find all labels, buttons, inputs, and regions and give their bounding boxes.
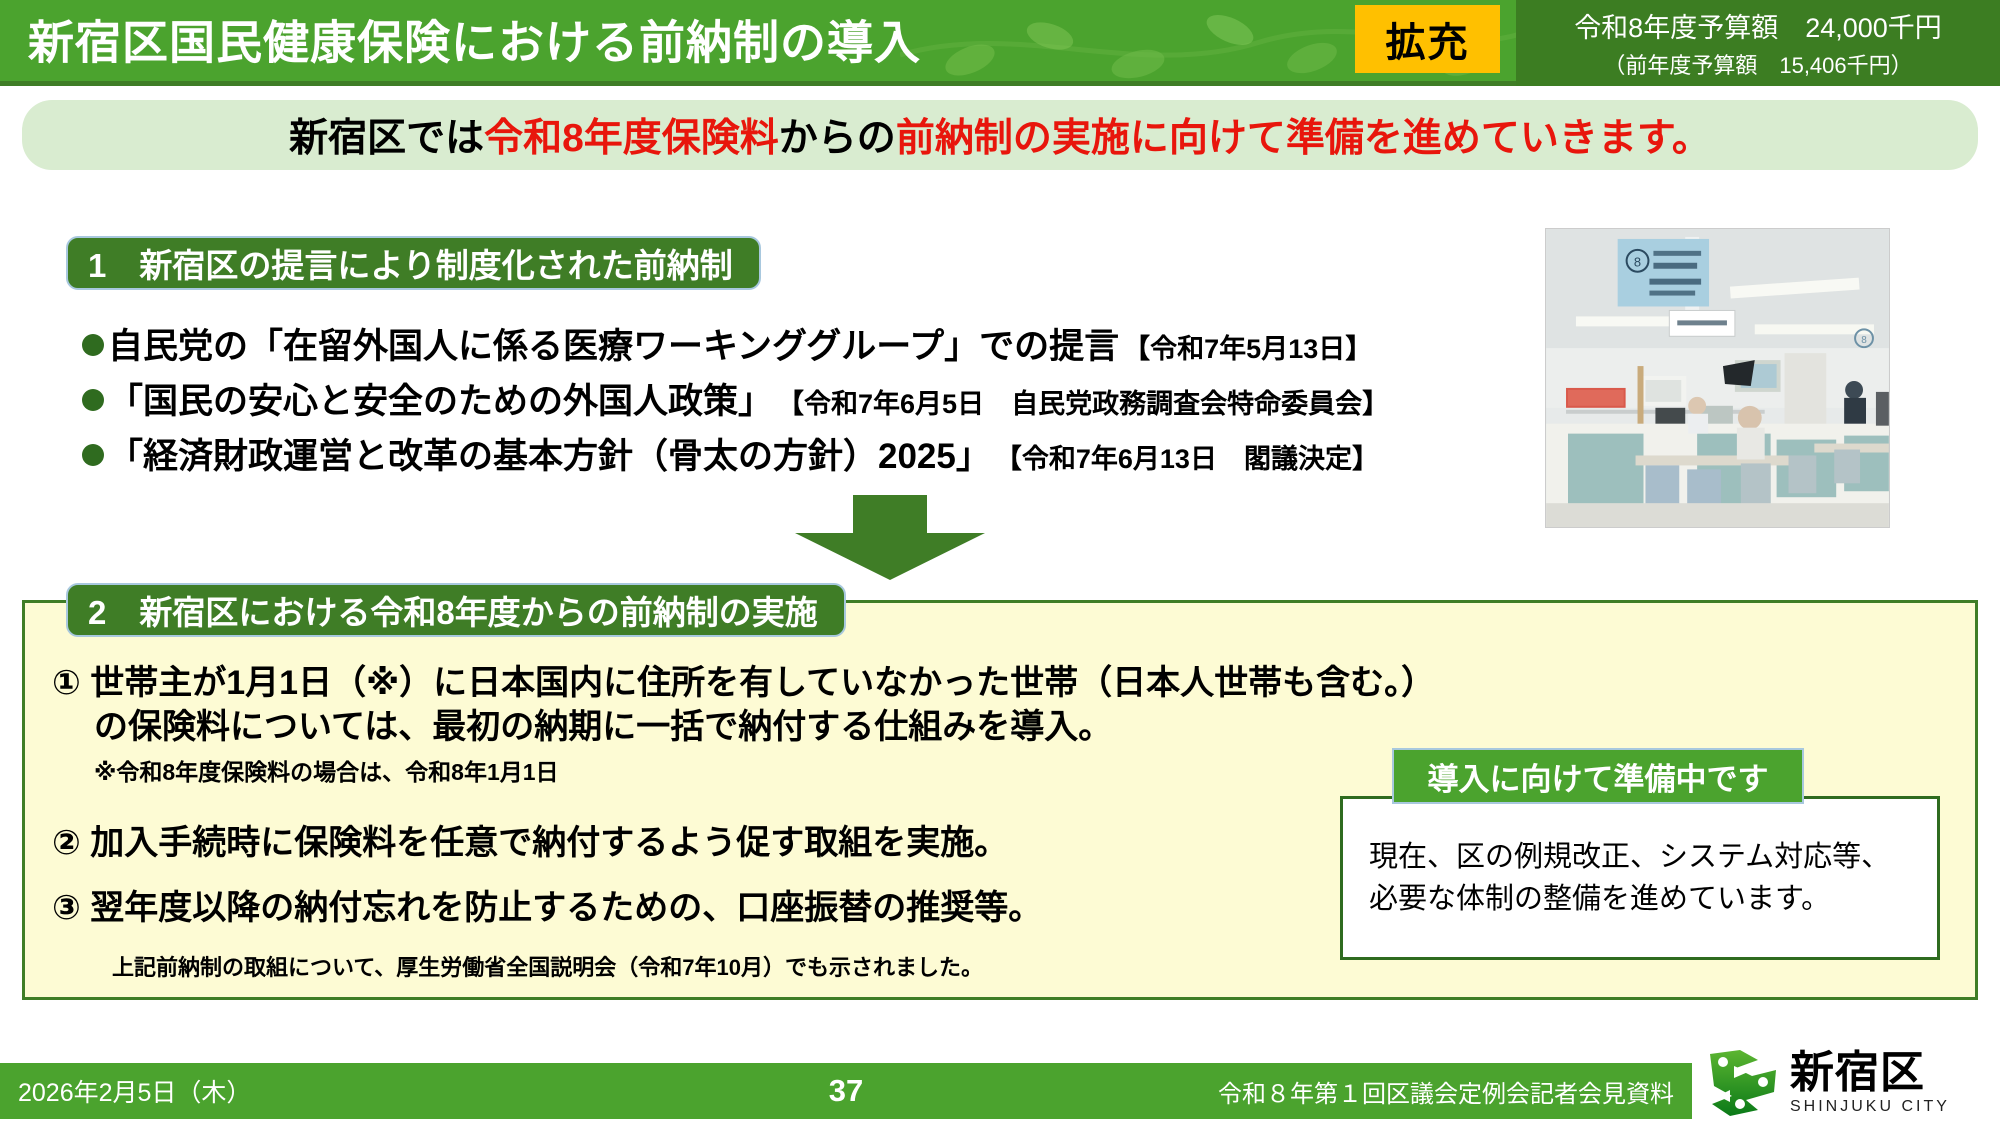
item-number: ③: [52, 889, 81, 927]
banner-highlight-2: 前納制の実施に向けて準備を進めていきます。: [896, 117, 1711, 160]
bullet-dot-icon: [82, 444, 104, 466]
bullet-dot-icon: [82, 334, 104, 356]
bullet-note-text: 【令和7年6月5日 自民党政務調査会特命委員会】: [777, 382, 1389, 421]
list-item: 「国民の安心と安全のための外国人政策」 【令和7年6月5日 自民党政務調査会特命…: [82, 373, 1389, 424]
list-item: 「経済財政運営と改革の基本方針（骨太の方針）2025」 【令和7年6月13日 閣…: [82, 428, 1379, 479]
numbered-item: ② 加入手続時に保険料を任意で納付するよう促す取組を実施。: [52, 822, 1008, 866]
logo-kanji: 新宿区: [1790, 1051, 1950, 1095]
item-number: ②: [52, 824, 81, 862]
page-title: 新宿区国民健康保険における前納制の導入: [28, 6, 921, 72]
svg-text:8: 8: [1634, 255, 1641, 270]
bullet-main-text: 「国民の安心と安全のための外国人政策」: [108, 373, 773, 424]
banner-part-2: からの: [779, 117, 896, 160]
bullet-main-text: 自民党の「在留外国人に係る医療ワーキンググループ」での提言: [108, 318, 1119, 369]
down-arrow-icon: [795, 495, 985, 580]
summary-banner-text: 新宿区では令和8年度保険料からの前納制の実施に向けて準備を進めていきます。: [289, 107, 1711, 163]
numbered-item-line: ② 加入手続時に保険料を任意で納付するよう促す取組を実施。: [52, 822, 1008, 866]
bullet-main-text: 「経済財政運営と改革の基本方針（骨太の方針）2025」: [108, 428, 991, 479]
status-badge-expansion: 拡充: [1355, 5, 1500, 73]
callout-box: 現在、区の例規改正、システム対応等、 必要な体制の整備を進めています。 導入に向…: [1340, 748, 1940, 960]
callout-body: 現在、区の例規改正、システム対応等、 必要な体制の整備を進めています。: [1340, 796, 1940, 960]
item-text-line-1: 世帯主が1月1日（※）に日本国内に住所を有していなかった世帯（日本人世帯も含む。…: [90, 664, 1435, 702]
banner-part-1: 新宿区では: [289, 117, 484, 160]
list-item: 自民党の「在留外国人に係る医療ワーキンググループ」での提言 【令和7年5月13日…: [82, 318, 1372, 369]
bullet-dot-icon: [82, 389, 104, 411]
item-text-line-1: 翌年度以降の納付忘れを防止するための、口座振替の推奨等。: [90, 889, 1042, 927]
logo-text: 新宿区 SHINJUKU CITY: [1790, 1051, 1950, 1116]
numbered-item: ① 世帯主が1月1日（※）に日本国内に住所を有していなかった世帯（日本人世帯も含…: [52, 662, 1435, 787]
numbered-item: ③ 翌年度以降の納付忘れを防止するための、口座振替の推奨等。: [52, 887, 1042, 931]
section-2-footnote: 上記前納制の取組について、厚生労働省全国説明会（令和7年10月）でも示されました…: [112, 950, 983, 982]
banner-highlight-1: 令和8年度保険料: [484, 117, 779, 160]
slide-footer: 2026年2月5日（木） 37 令和８年第１回区議会定例会記者会見資料: [0, 1063, 1692, 1119]
office-counter-photo: 8 8: [1545, 228, 1890, 528]
item-number: ①: [52, 664, 81, 702]
budget-previous-year: （前年度予算額 15,406千円）: [1603, 48, 1912, 80]
callout-title: 導入に向けて準備中です: [1392, 748, 1804, 804]
budget-current-year: 令和8年度予算額 24,000千円: [1574, 6, 1942, 45]
item-text-line-1: 加入手続時に保険料を任意で納付するよう促す取組を実施。: [90, 824, 1008, 862]
budget-summary: 令和8年度予算額 24,000千円 （前年度予算額 15,406千円）: [1516, 0, 2000, 86]
footer-document-title: 令和８年第１回区議会定例会記者会見資料: [1218, 1074, 1674, 1109]
section-1-heading: 1 新宿区の提言により制度化された前納制: [66, 236, 761, 290]
slide-root: 新宿区国民健康保険における前納制の導入 拡充 令和8年度予算額 24,000千円…: [0, 0, 2000, 1125]
item-sub-note: ※令和8年度保険料の場合は、令和8年1月1日: [94, 753, 1435, 787]
bullet-note-text: 【令和7年6月13日 閣議決定】: [995, 437, 1379, 476]
callout-body-line-1: 現在、区の例規改正、システム対応等、: [1369, 836, 1890, 878]
shinjuku-city-logo: 新宿区 SHINJUKU CITY: [1706, 1046, 1992, 1120]
callout-body-line-2: 必要な体制の整備を進めています。: [1369, 878, 1830, 920]
numbered-item-line: ③ 翌年度以降の納付忘れを防止するための、口座振替の推奨等。: [52, 887, 1042, 931]
bullet-note-text: 【令和7年5月13日】: [1123, 327, 1372, 366]
shinjuku-logo-mark: [1706, 1048, 1780, 1118]
summary-banner: 新宿区では令和8年度保険料からの前納制の実施に向けて準備を進めていきます。: [22, 100, 1978, 170]
svg-text:8: 8: [1861, 335, 1867, 346]
item-text-line-2: の保険料については、最初の納期に一括で納付する仕組みを導入。: [94, 706, 1435, 750]
section-2-heading: 2 新宿区における令和8年度からの前納制の実施: [66, 583, 846, 637]
logo-roman: SHINJUKU CITY: [1790, 1098, 1950, 1116]
numbered-item-line: ① 世帯主が1月1日（※）に日本国内に住所を有していなかった世帯（日本人世帯も含…: [52, 662, 1435, 706]
